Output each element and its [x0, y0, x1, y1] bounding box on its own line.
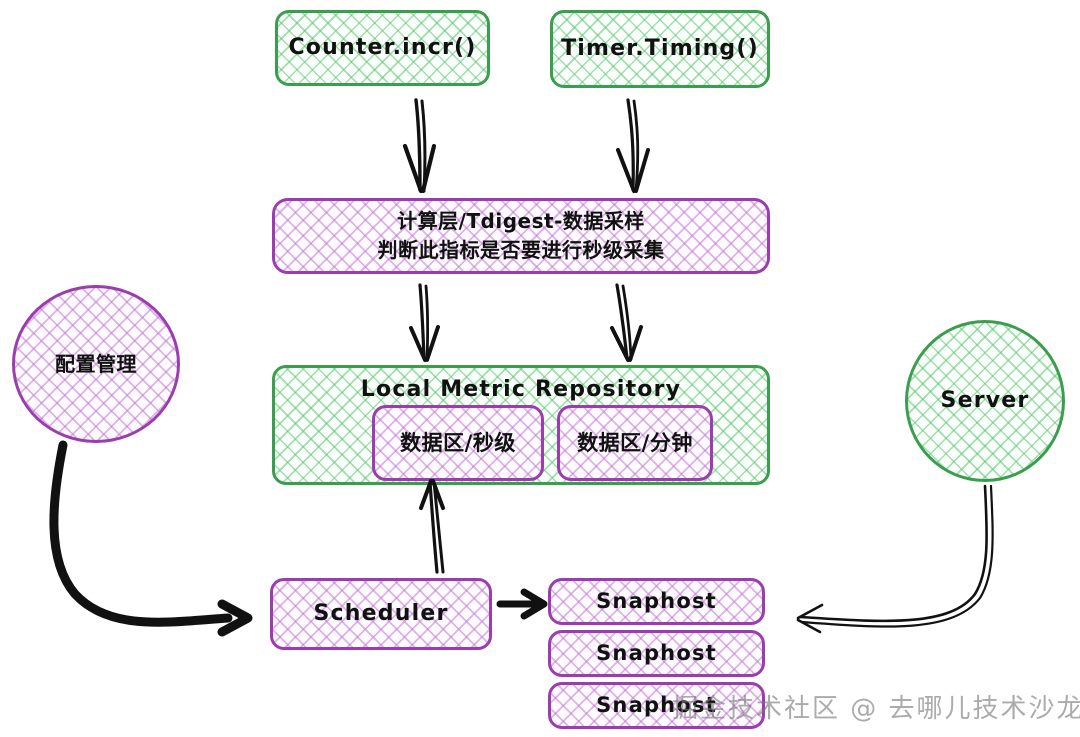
edge-compute-to-repo-left [411, 285, 438, 360]
edge-config-to-scheduler [54, 445, 248, 632]
node-snapshot-1[interactable]: Snaphost [548, 578, 765, 625]
edge-compute-to-repo-right [612, 285, 641, 360]
config-management-label: 配置管理 [55, 352, 137, 377]
compute-layer-line-2: 判断此指标是否要进行秒级采集 [378, 238, 665, 263]
edge-scheduler-to-snapshot [500, 592, 544, 616]
compute-layer-line-1: 计算层/Tdigest-数据采样 [397, 209, 645, 234]
node-scheduler[interactable]: Scheduler [270, 578, 492, 650]
server-label: Server [941, 387, 1030, 415]
data-zone-minute-label: 数据区/分钟 [577, 430, 693, 456]
node-server[interactable]: Server [905, 320, 1065, 482]
node-config-management[interactable]: 配置管理 [12, 285, 180, 443]
watermark-text: 掘金技术社区 @ 去哪儿技术沙龙 [672, 688, 1080, 725]
node-compute-layer[interactable]: 计算层/Tdigest-数据采样 判断此指标是否要进行秒级采集 [272, 198, 770, 274]
node-data-zone-minute[interactable]: 数据区/分钟 [557, 405, 713, 481]
scheduler-label: Scheduler [314, 600, 449, 628]
edge-scheduler-to-second-zone [421, 481, 443, 572]
edge-timer-to-compute [618, 100, 648, 191]
snapshot-2-label: Snaphost [596, 640, 717, 666]
node-counter-incr-label: Counter.incr() [288, 34, 476, 62]
edge-counter-to-compute [405, 100, 434, 191]
data-zone-second-label: 数据区/秒级 [400, 430, 516, 456]
node-timer-timing[interactable]: Timer.Timing() [550, 10, 770, 88]
local-metric-repository-title: Local Metric Repository [275, 376, 767, 404]
node-snapshot-2[interactable]: Snaphost [548, 630, 765, 677]
node-counter-incr[interactable]: Counter.incr() [275, 10, 490, 86]
diagram-canvas: Counter.incr() Timer.Timing() 计算层/Tdiges… [0, 0, 1080, 737]
edge-server-to-snapshot [798, 486, 993, 632]
snapshot-1-label: Snaphost [596, 588, 717, 614]
node-timer-timing-label: Timer.Timing() [561, 35, 759, 63]
node-data-zone-second[interactable]: 数据区/秒级 [372, 405, 544, 481]
